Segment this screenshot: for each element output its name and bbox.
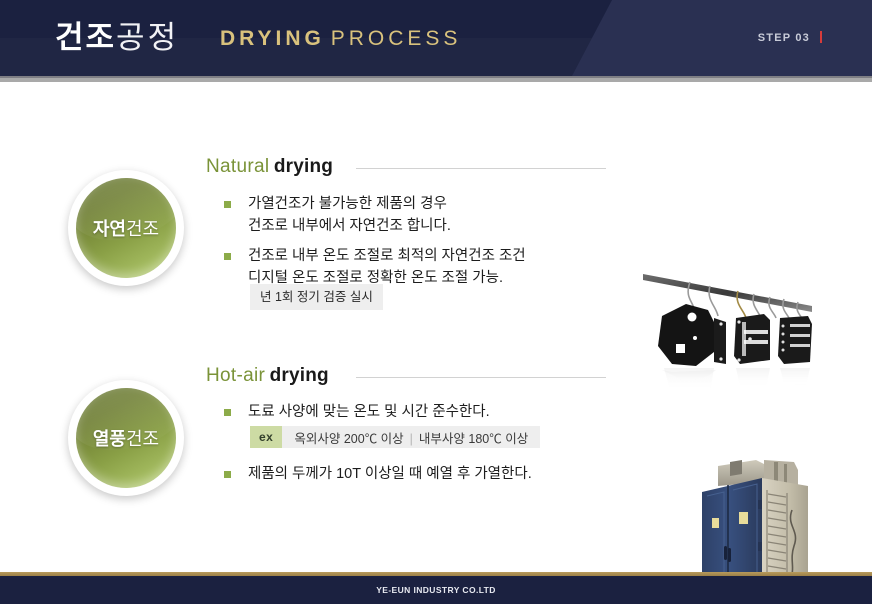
heading-hotair-black: drying — [270, 365, 329, 386]
hanging-metal-parts-photo — [640, 260, 860, 410]
bullet-natural-1-line1: 가열건조가 불가능한 제품의 경우 — [248, 193, 447, 215]
example-spec-separator: | — [404, 432, 419, 446]
page-title-bold: 건조 — [55, 20, 116, 55]
bullet-hotair-1-line1: 도료 사양에 맞는 온도 및 시간 준수한다. — [248, 401, 490, 423]
badge-hotair-drying: 열풍건조 — [68, 380, 204, 496]
page-subtitle-light: PROCESS — [331, 27, 462, 50]
bullet-hotair-2-line1: 제품의 두께가 10T 이상일 때 예열 후 가열한다. — [248, 463, 532, 485]
bullet-natural-1-line2: 건조로 내부에서 자연건조 합니다. — [248, 215, 451, 237]
heading-natural-green: Natural — [206, 156, 269, 177]
bullet-marker-icon — [224, 201, 231, 208]
badge-hotair-label-thin: 건조 — [126, 425, 159, 451]
page-subtitle-bold: DRYING — [220, 27, 325, 50]
heading-hotair-drying: Hot-air drying — [206, 365, 329, 387]
main-content: 자연건조 Natural drying 가열건조가 불가능한 제품의 경우 건조… — [0, 82, 872, 552]
example-spec-text: 옥외사양 200℃ 이상|내부사양 180℃ 이상 — [282, 428, 540, 447]
bullet-marker-icon — [224, 409, 231, 416]
step-indicator: STEP 03 — [758, 31, 822, 44]
page-title-light: 공정 — [116, 20, 179, 55]
note-natural-inspection: 년 1회 정기 검증 실시 — [250, 284, 383, 310]
example-spec-indoor: 내부사양 180℃ 이상 — [419, 432, 528, 446]
example-tag: ex — [250, 426, 282, 448]
example-spec-box: ex 옥외사양 200℃ 이상|내부사양 180℃ 이상 — [250, 426, 540, 448]
badge-hotair-label: 열풍건조 — [76, 388, 176, 488]
heading-hotair-green: Hot-air — [206, 365, 265, 386]
header-divider-inner — [0, 76, 872, 78]
footer-company-name: YE-EUN INDUSTRY CO.LTD — [376, 585, 496, 595]
heading-natural-drying: Natural drying — [206, 156, 333, 178]
badge-natural-label-thin: 건조 — [126, 215, 159, 241]
page-subtitle: DRYING PROCESS — [220, 25, 461, 53]
bullet-natural-2-line1: 건조로 내부 온도 조절로 최적의 자연건조 조건 — [248, 245, 526, 267]
bullet-marker-icon — [224, 471, 231, 478]
badge-hotair-label-bold: 열풍 — [93, 425, 126, 451]
step-label: STEP 03 — [758, 32, 810, 44]
page-header: 건조공정 DRYING PROCESS STEP 03 — [0, 0, 872, 76]
heading-hotair-rule — [356, 377, 606, 378]
example-spec-outdoor: 옥외사양 200℃ 이상 — [294, 432, 403, 446]
page-footer: YE-EUN INDUSTRY CO.LTD — [0, 576, 872, 604]
badge-natural-label: 자연건조 — [76, 178, 176, 278]
heading-natural-rule — [356, 168, 606, 169]
badge-natural-label-bold: 자연 — [93, 215, 126, 241]
page-title: 건조공정 — [55, 19, 179, 57]
heading-natural-black: drying — [274, 156, 333, 177]
bullet-marker-icon — [224, 253, 231, 260]
step-bar-marker — [820, 31, 822, 43]
badge-natural-drying: 자연건조 — [68, 170, 204, 286]
header-diagonal-panel — [572, 0, 872, 76]
